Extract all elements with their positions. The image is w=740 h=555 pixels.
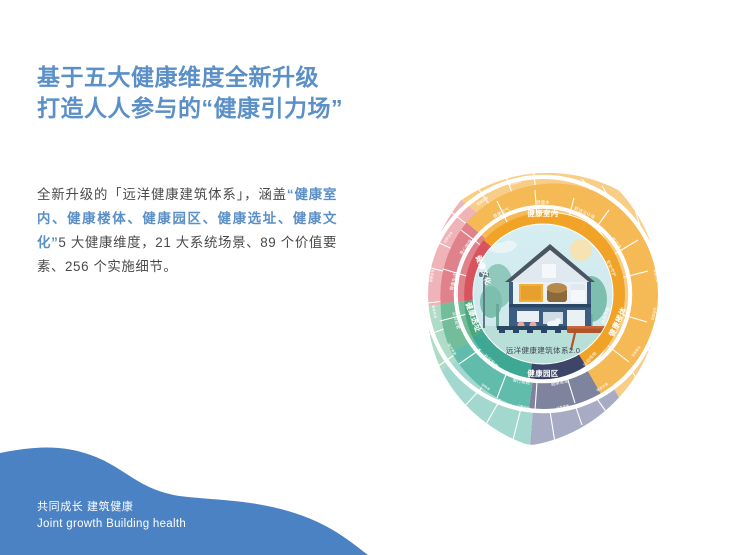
footer-slogan-en: Joint growth Building health xyxy=(37,516,186,533)
sector-label-park[interactable]: 健康园区 xyxy=(527,369,558,378)
footer-wave-shape xyxy=(0,435,470,555)
body-part-1: 全新升级的「远洋健康建筑体系」，涵盖 xyxy=(37,187,287,202)
footer-slogan-cn: 共同成长 建筑健康 xyxy=(37,499,186,516)
sector-label-indoor[interactable]: 健康室内 xyxy=(527,209,558,218)
title-line-1: 基于五大健康维度全新升级 xyxy=(37,62,467,93)
slide-root: 基于五大健康维度全新升级 打造人人参与的“健康引力场” 全新升级的「远洋健康建筑… xyxy=(0,0,740,555)
sub-label-indoor-2[interactable]: 健康水 xyxy=(536,199,550,206)
outer-label-indoor-1[interactable]: 新风系统 xyxy=(536,174,550,179)
body-paragraph: 全新升级的「远洋健康建筑体系」，涵盖“健康室内、健康楼体、健康园区、健康选址、健… xyxy=(37,183,337,279)
body-part-2: 5 大健康维度，21 大系统场景、89 个价值要素、256 个实施细节。 xyxy=(37,235,337,274)
diagram-center-caption: 远洋健康建筑体系2.0 xyxy=(506,345,581,355)
health-system-wheel-diagram: 远洋健康建筑体系2.0 健康室内 健康楼体 健康园区 健康选址 健康文化 安全守… xyxy=(385,136,701,452)
page-title: 基于五大健康维度全新升级 打造人人参与的“健康引力场” xyxy=(37,62,467,124)
footer-text-block: 共同成长 建筑健康 Joint growth Building health xyxy=(37,499,186,533)
title-line-2: 打造人人参与的“健康引力场” xyxy=(37,93,467,124)
